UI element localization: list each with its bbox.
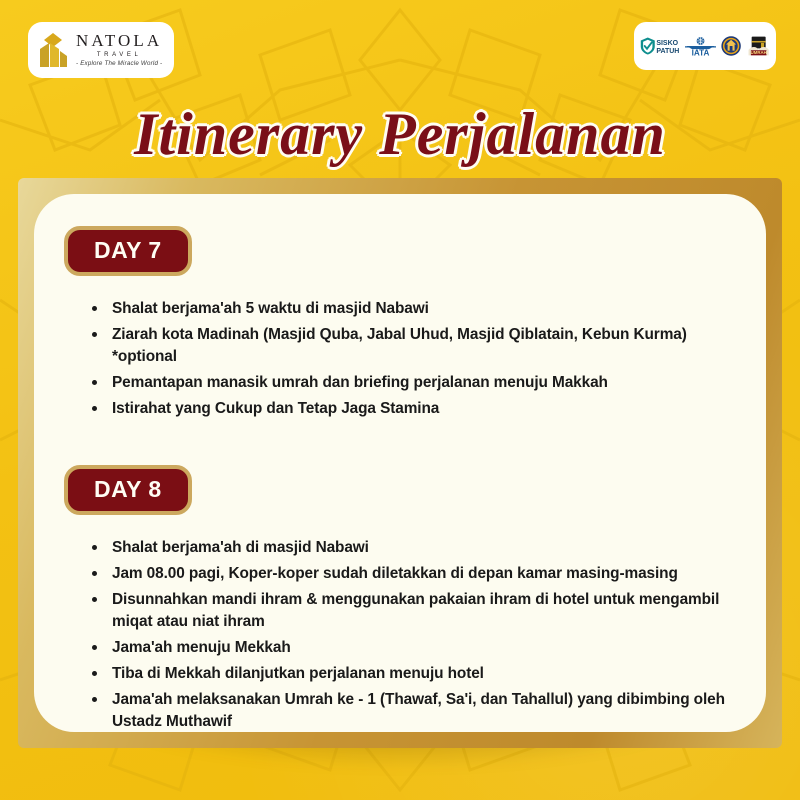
natola-monogram-icon (36, 31, 70, 69)
day-7-item-list: Shalat berjama'ah 5 waktu di masjid Naba… (64, 298, 736, 419)
svg-text:IATA: IATA (692, 48, 710, 57)
list-item: Tiba di Mekkah dilanjutkan perjalanan me… (90, 663, 736, 685)
svg-text:UMRAH: UMRAH (750, 50, 766, 55)
list-item: Jama'ah menuju Mekkah (90, 637, 736, 659)
rumah-umrah-logo: UMRAH (747, 33, 770, 59)
list-item: Istirahat yang Cukup dan Tetap Jaga Stam… (90, 398, 736, 420)
list-item: Shalat berjama'ah di masjid Nabawi (90, 537, 736, 559)
list-item: Pemantapan manasik umrah dan briefing pe… (90, 372, 736, 394)
svg-text:PATUH: PATUH (656, 48, 679, 55)
day-badge-8: DAY 8 (64, 465, 192, 515)
brand-logo: NATOLA TRAVEL - Explore The Miracle Worl… (28, 22, 174, 78)
day-section-7: DAY 7 Shalat berjama'ah 5 waktu di masji… (64, 226, 736, 419)
list-item: Disunnahkan mandi ihram & menggunakan pa… (90, 589, 736, 633)
itinerary-card: DAY 7 Shalat berjama'ah 5 waktu di masji… (34, 194, 766, 732)
brand-subtitle: TRAVEL (97, 52, 142, 58)
list-item: Ziarah kota Madinah (Masjid Quba, Jabal … (90, 324, 736, 368)
list-item: Shalat berjama'ah 5 waktu di masjid Naba… (90, 298, 736, 320)
list-item: Jam 08.00 pagi, Koper-koper sudah dileta… (90, 563, 736, 585)
day-badge-7: DAY 7 (64, 226, 192, 276)
iata-logo: IATA (685, 33, 716, 59)
list-item: Jama'ah melaksanakan Umrah ke - 1 (Thawa… (90, 689, 736, 732)
sisko-patuh-logo: SISKO PATUH (640, 33, 680, 59)
day-8-item-list: Shalat berjama'ah di masjid Nabawi Jam 0… (64, 537, 736, 732)
certification-badges: SISKO PATUH IATA UMRAH (634, 22, 776, 70)
page-title: Itinerary Perjalanan (0, 104, 800, 164)
kemenag-logo (721, 33, 741, 59)
brand-name: NATOLA (76, 32, 162, 49)
brand-tagline: - Explore The Miracle World - (76, 61, 162, 67)
itinerary-poster: NATOLA TRAVEL - Explore The Miracle Worl… (0, 0, 800, 800)
day-section-8: DAY 8 Shalat berjama'ah di masjid Nabawi… (64, 465, 736, 732)
itinerary-card-frame: DAY 7 Shalat berjama'ah 5 waktu di masji… (18, 178, 782, 748)
svg-text:SISKO: SISKO (656, 40, 678, 47)
